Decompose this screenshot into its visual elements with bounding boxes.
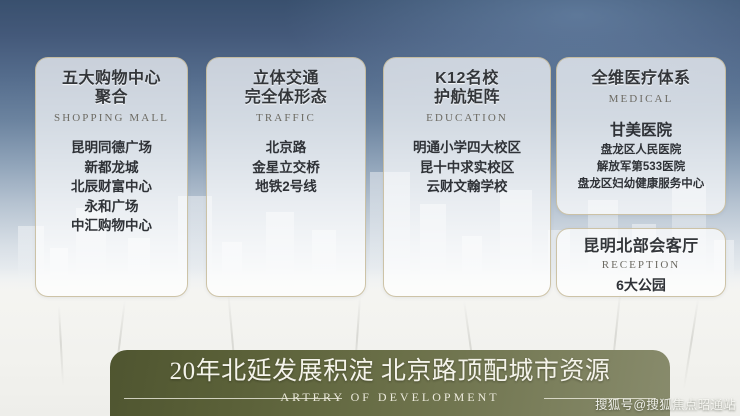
card-reception: 昆明北部会客厅 RECEPTION 6大公园 [556,228,726,297]
card-subtitle: SHOPPING MALL [36,112,187,125]
list-item: 北辰财富中心 [36,177,187,197]
card-title: 五大购物中心 聚合 [36,69,187,107]
card-subtitle: EDUCATION [384,112,550,125]
card-title-line-1: 五大购物中心 [36,69,187,88]
card-lead-item: 甘美医院 [557,119,725,142]
bottom-banner: 20年北延发展积淀 北京路顶配城市资源 ARTERY OF DEVELOPMEN… [110,350,670,416]
watermark: 搜狐号@搜狐焦点昭通站 [595,394,736,413]
card-title-line-1: 全维医疗体系 [557,69,725,88]
banner-subline: ARTERY OF DEVELOPMENT [110,390,670,405]
list-item: 金星立交桥 [207,158,365,178]
card-shopping-mall: 五大购物中心 聚合 SHOPPING MALL 昆明同德广场 新都龙城 北辰财富… [35,57,188,297]
list-item: 6大公园 [557,276,725,296]
list-item: 明通小学四大校区 [384,138,550,158]
card-title-line-2: 完全体形态 [207,88,365,107]
card-title: 昆明北部会客厅 [557,237,725,256]
list-item: 北京路 [207,138,365,158]
list-item: 昆明同德广场 [36,138,187,158]
list-item: 中汇购物中心 [36,216,187,236]
card-subtitle: MEDICAL [557,93,725,106]
card-title: K12名校 护航矩阵 [384,69,550,107]
list-item: 新都龙城 [36,158,187,178]
poster-root: 五大购物中心 聚合 SHOPPING MALL 昆明同德广场 新都龙城 北辰财富… [0,0,740,416]
list-item: 解放军第533医院 [557,159,725,176]
card-title-line-1: 昆明北部会客厅 [557,237,725,256]
card-education: K12名校 护航矩阵 EDUCATION 明通小学四大校区 昆十中求实校区 云财… [383,57,551,297]
list-item: 地铁2号线 [207,177,365,197]
card-title: 立体交通 完全体形态 [207,69,365,107]
card-item-list: 甘美医院 盘龙区人民医院 解放军第533医院 盘龙区妇幼健康服务中心 [557,119,725,193]
banner-headline: 20年北延发展积淀 北京路顶配城市资源 [110,356,670,388]
list-item: 昆十中求实校区 [384,158,550,178]
card-title-line-1: 立体交通 [207,69,365,88]
card-subtitle: RECEPTION [557,259,725,272]
card-subtitle: TRAFFIC [207,112,365,125]
card-title-line-1: K12名校 [384,69,550,88]
card-title: 全维医疗体系 [557,69,725,88]
card-item-list: 昆明同德广场 新都龙城 北辰财富中心 永和广场 中汇购物中心 [36,138,187,236]
card-item-list: 北京路 金星立交桥 地铁2号线 [207,138,365,197]
card-item-list: 明通小学四大校区 昆十中求实校区 云财文翰学校 [384,138,550,197]
card-item-list: 6大公园 [557,276,725,296]
list-item: 盘龙区人民医院 [557,142,725,159]
list-item: 永和广场 [36,197,187,217]
card-title-line-2: 聚合 [36,88,187,107]
list-item: 云财文翰学校 [384,177,550,197]
list-item: 盘龙区妇幼健康服务中心 [557,176,725,193]
card-medical: 全维医疗体系 MEDICAL 甘美医院 盘龙区人民医院 解放军第533医院 盘龙… [556,57,726,215]
card-traffic: 立体交通 完全体形态 TRAFFIC 北京路 金星立交桥 地铁2号线 [206,57,366,297]
card-title-line-2: 护航矩阵 [384,88,550,107]
